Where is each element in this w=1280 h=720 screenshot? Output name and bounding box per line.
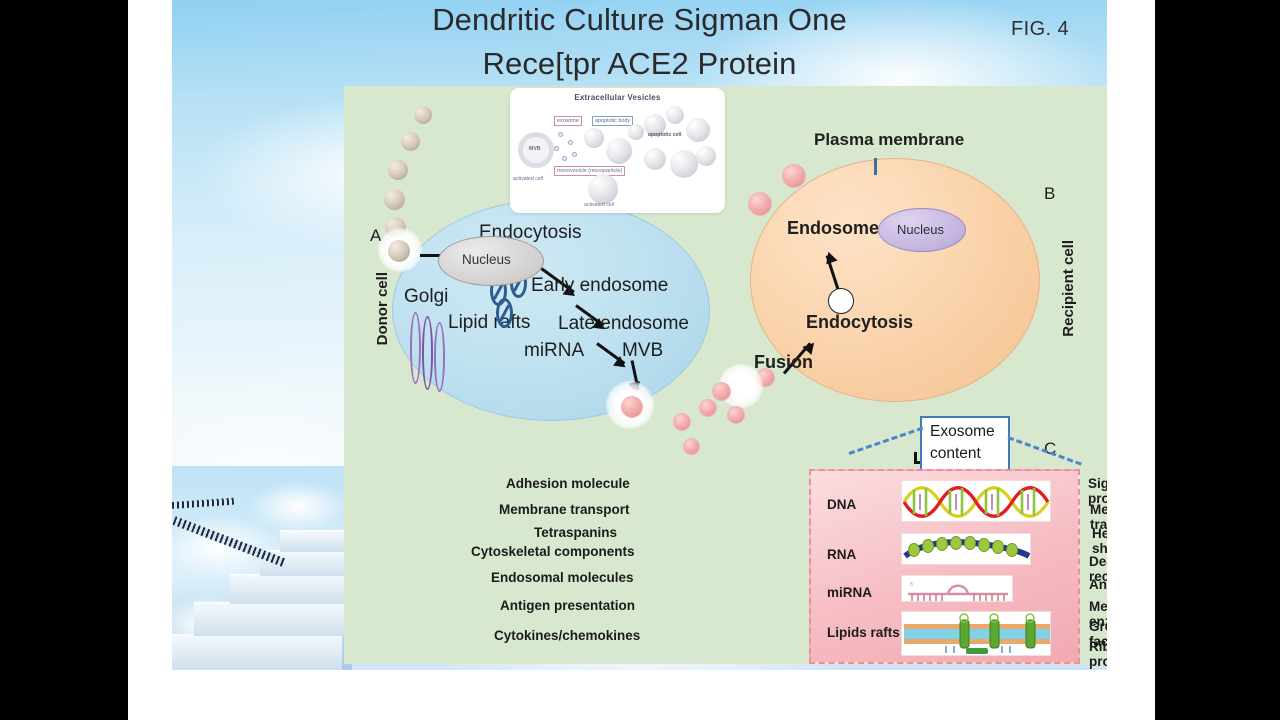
recipient-endocytosis-label: Endocytosis bbox=[806, 312, 913, 333]
letterbox-bar-right bbox=[1155, 0, 1280, 720]
left-label-cytoskeletal-components: Cytoskeletal components bbox=[471, 544, 635, 559]
stair-step bbox=[194, 602, 352, 636]
left-label-endosomal-molecules: Endosomal molecules bbox=[491, 570, 634, 585]
content-label-dna: DNA bbox=[827, 497, 856, 512]
panel-letter-b: B bbox=[1044, 184, 1055, 204]
vesicle-sphere bbox=[414, 106, 432, 124]
document-page: Dendritic Culture Sigman One Rece[tpr AC… bbox=[128, 0, 1155, 720]
dna-helix-image bbox=[901, 480, 1051, 522]
screenshot-root: Dendritic Culture Sigman One Rece[tpr AC… bbox=[0, 0, 1280, 720]
callout-line-2: content bbox=[930, 445, 981, 463]
exosome-content-panel: DNA RNA miRNA Lipids rafts bbox=[809, 469, 1080, 664]
inset-exosome bbox=[568, 140, 573, 145]
inset-tag-apoptotic-body: apoptotic body bbox=[592, 116, 633, 126]
inset-vesicle bbox=[696, 146, 716, 166]
golgi-cisterna bbox=[410, 312, 421, 384]
vesicle-sphere bbox=[712, 382, 731, 401]
exosome-content-callout: Exosome content bbox=[920, 416, 1010, 472]
vesicle-sphere bbox=[384, 189, 405, 210]
callout-line-1: Exosome bbox=[930, 423, 995, 441]
fusion-label: Fusion bbox=[754, 352, 813, 373]
content-label-lipids-rafts: Lipids rafts bbox=[827, 625, 900, 640]
page-title: Dendritic Culture Sigman One Rece[tpr AC… bbox=[172, 0, 1107, 86]
rna-strand-image bbox=[901, 533, 1031, 565]
donor-nucleus-label: Nucleus bbox=[462, 252, 511, 267]
inset-vesicle bbox=[666, 106, 684, 124]
inset-exosome bbox=[558, 132, 563, 137]
lipid-raft-membrane-image bbox=[901, 611, 1051, 656]
left-label-adhesion-molecule: Adhesion molecule bbox=[506, 476, 630, 491]
mirna-label: miRNA bbox=[524, 340, 584, 362]
inset-exosome bbox=[572, 152, 577, 157]
callout-leader-left bbox=[849, 427, 924, 455]
plasma-membrane-label: Plasma membrane bbox=[814, 130, 964, 150]
late-endosome-label: Late endosome bbox=[558, 313, 689, 335]
left-label-tetraspanins: Tetraspanins bbox=[534, 525, 617, 540]
right-label-annexins: Annexins bbox=[1089, 577, 1107, 592]
inset-vesicle bbox=[606, 138, 632, 164]
vesicle-sphere bbox=[673, 413, 691, 431]
released-vesicle bbox=[621, 396, 643, 418]
recipient-endosome-label: Endosome bbox=[787, 218, 879, 239]
content-label-rna: RNA bbox=[827, 547, 856, 562]
dna-helix-svg bbox=[902, 481, 1051, 522]
surface-vesicle bbox=[748, 192, 772, 216]
recipient-cell-side-label: Recipient cell bbox=[1060, 240, 1077, 337]
stairway-background-image bbox=[172, 466, 352, 670]
lipid-rafts-label: Lipid rafts bbox=[448, 312, 530, 334]
inset-caption-apoptotic-cell: apoptotic cell bbox=[648, 132, 681, 138]
vesicle-sphere bbox=[388, 160, 408, 180]
surface-vesicle bbox=[782, 164, 806, 188]
inset-exosome bbox=[562, 156, 567, 161]
golgi-label: Golgi bbox=[404, 286, 448, 308]
slide-canvas: Dendritic Culture Sigman One Rece[tpr AC… bbox=[172, 0, 1107, 670]
figure-panel: A B C Donor cell Recipient cell Endocyto… bbox=[344, 86, 1107, 664]
rna-strand-svg bbox=[902, 534, 1031, 565]
inset-exosome bbox=[554, 146, 559, 151]
svg-text:5': 5' bbox=[910, 582, 914, 588]
recipient-nucleus-label: Nucleus bbox=[897, 222, 944, 237]
content-label-mirna: miRNA bbox=[827, 585, 872, 600]
inset-vesicle bbox=[644, 148, 666, 170]
letterbox-bar-left bbox=[0, 0, 128, 720]
left-label-cytokines-chemokines: Cytokines/chemokines bbox=[494, 628, 640, 643]
golgi-cisterna bbox=[422, 316, 433, 390]
right-label-ribosomal-proteins: Ribosomal proteins bbox=[1089, 639, 1107, 669]
stair-step bbox=[172, 634, 342, 670]
mvb-label: MVB bbox=[622, 340, 663, 362]
inset-activated-cell bbox=[588, 174, 618, 204]
extracellular-vesicles-inset: Extracellular Vesicles MVB activated cel… bbox=[510, 88, 725, 213]
plasma-membrane-tick bbox=[874, 158, 877, 175]
right-label-heat-shock: Heat shock bbox=[1092, 526, 1107, 556]
early-endosome-label: Early endosome bbox=[531, 275, 668, 297]
inset-caption-activated-cell-2: activated cell bbox=[584, 202, 614, 208]
stair-step bbox=[280, 530, 352, 552]
mirna-hairpin-image: 5' bbox=[901, 575, 1013, 602]
endocytosis-vesicle-recipient bbox=[828, 288, 854, 314]
inset-vesicle bbox=[584, 128, 604, 148]
left-label-antigen-presentation: Antigen presentation bbox=[500, 598, 635, 613]
inset-tag-exosome: exosome bbox=[554, 116, 582, 126]
golgi-cisterna bbox=[434, 322, 445, 392]
inset-caption-mvb: MVB bbox=[529, 146, 541, 152]
vesicle-sphere bbox=[699, 399, 717, 417]
left-label-membrane-transport: Membrane transport bbox=[499, 502, 630, 517]
inset-vesicle bbox=[670, 150, 698, 178]
vesicle-sphere bbox=[401, 132, 420, 151]
inset-vesicle bbox=[628, 124, 644, 140]
figure-number: FIG. 4 bbox=[1011, 18, 1069, 41]
inset-caption-activated-cell: activated cell bbox=[513, 176, 543, 182]
vesicle-sphere bbox=[683, 438, 700, 455]
donor-cell-side-label: Donor cell bbox=[374, 272, 391, 345]
inset-title: Extracellular Vesicles bbox=[510, 93, 725, 102]
inset-vesicle bbox=[686, 118, 710, 142]
vesicle-sphere bbox=[727, 406, 745, 424]
lipid-raft-svg bbox=[902, 612, 1051, 656]
stair-step bbox=[230, 574, 352, 604]
mirna-hairpin-svg: 5' bbox=[902, 576, 1013, 602]
inset-tag-microvesicle: microvesicle (microparticle) bbox=[554, 166, 625, 176]
vesicle-sphere bbox=[388, 240, 410, 262]
